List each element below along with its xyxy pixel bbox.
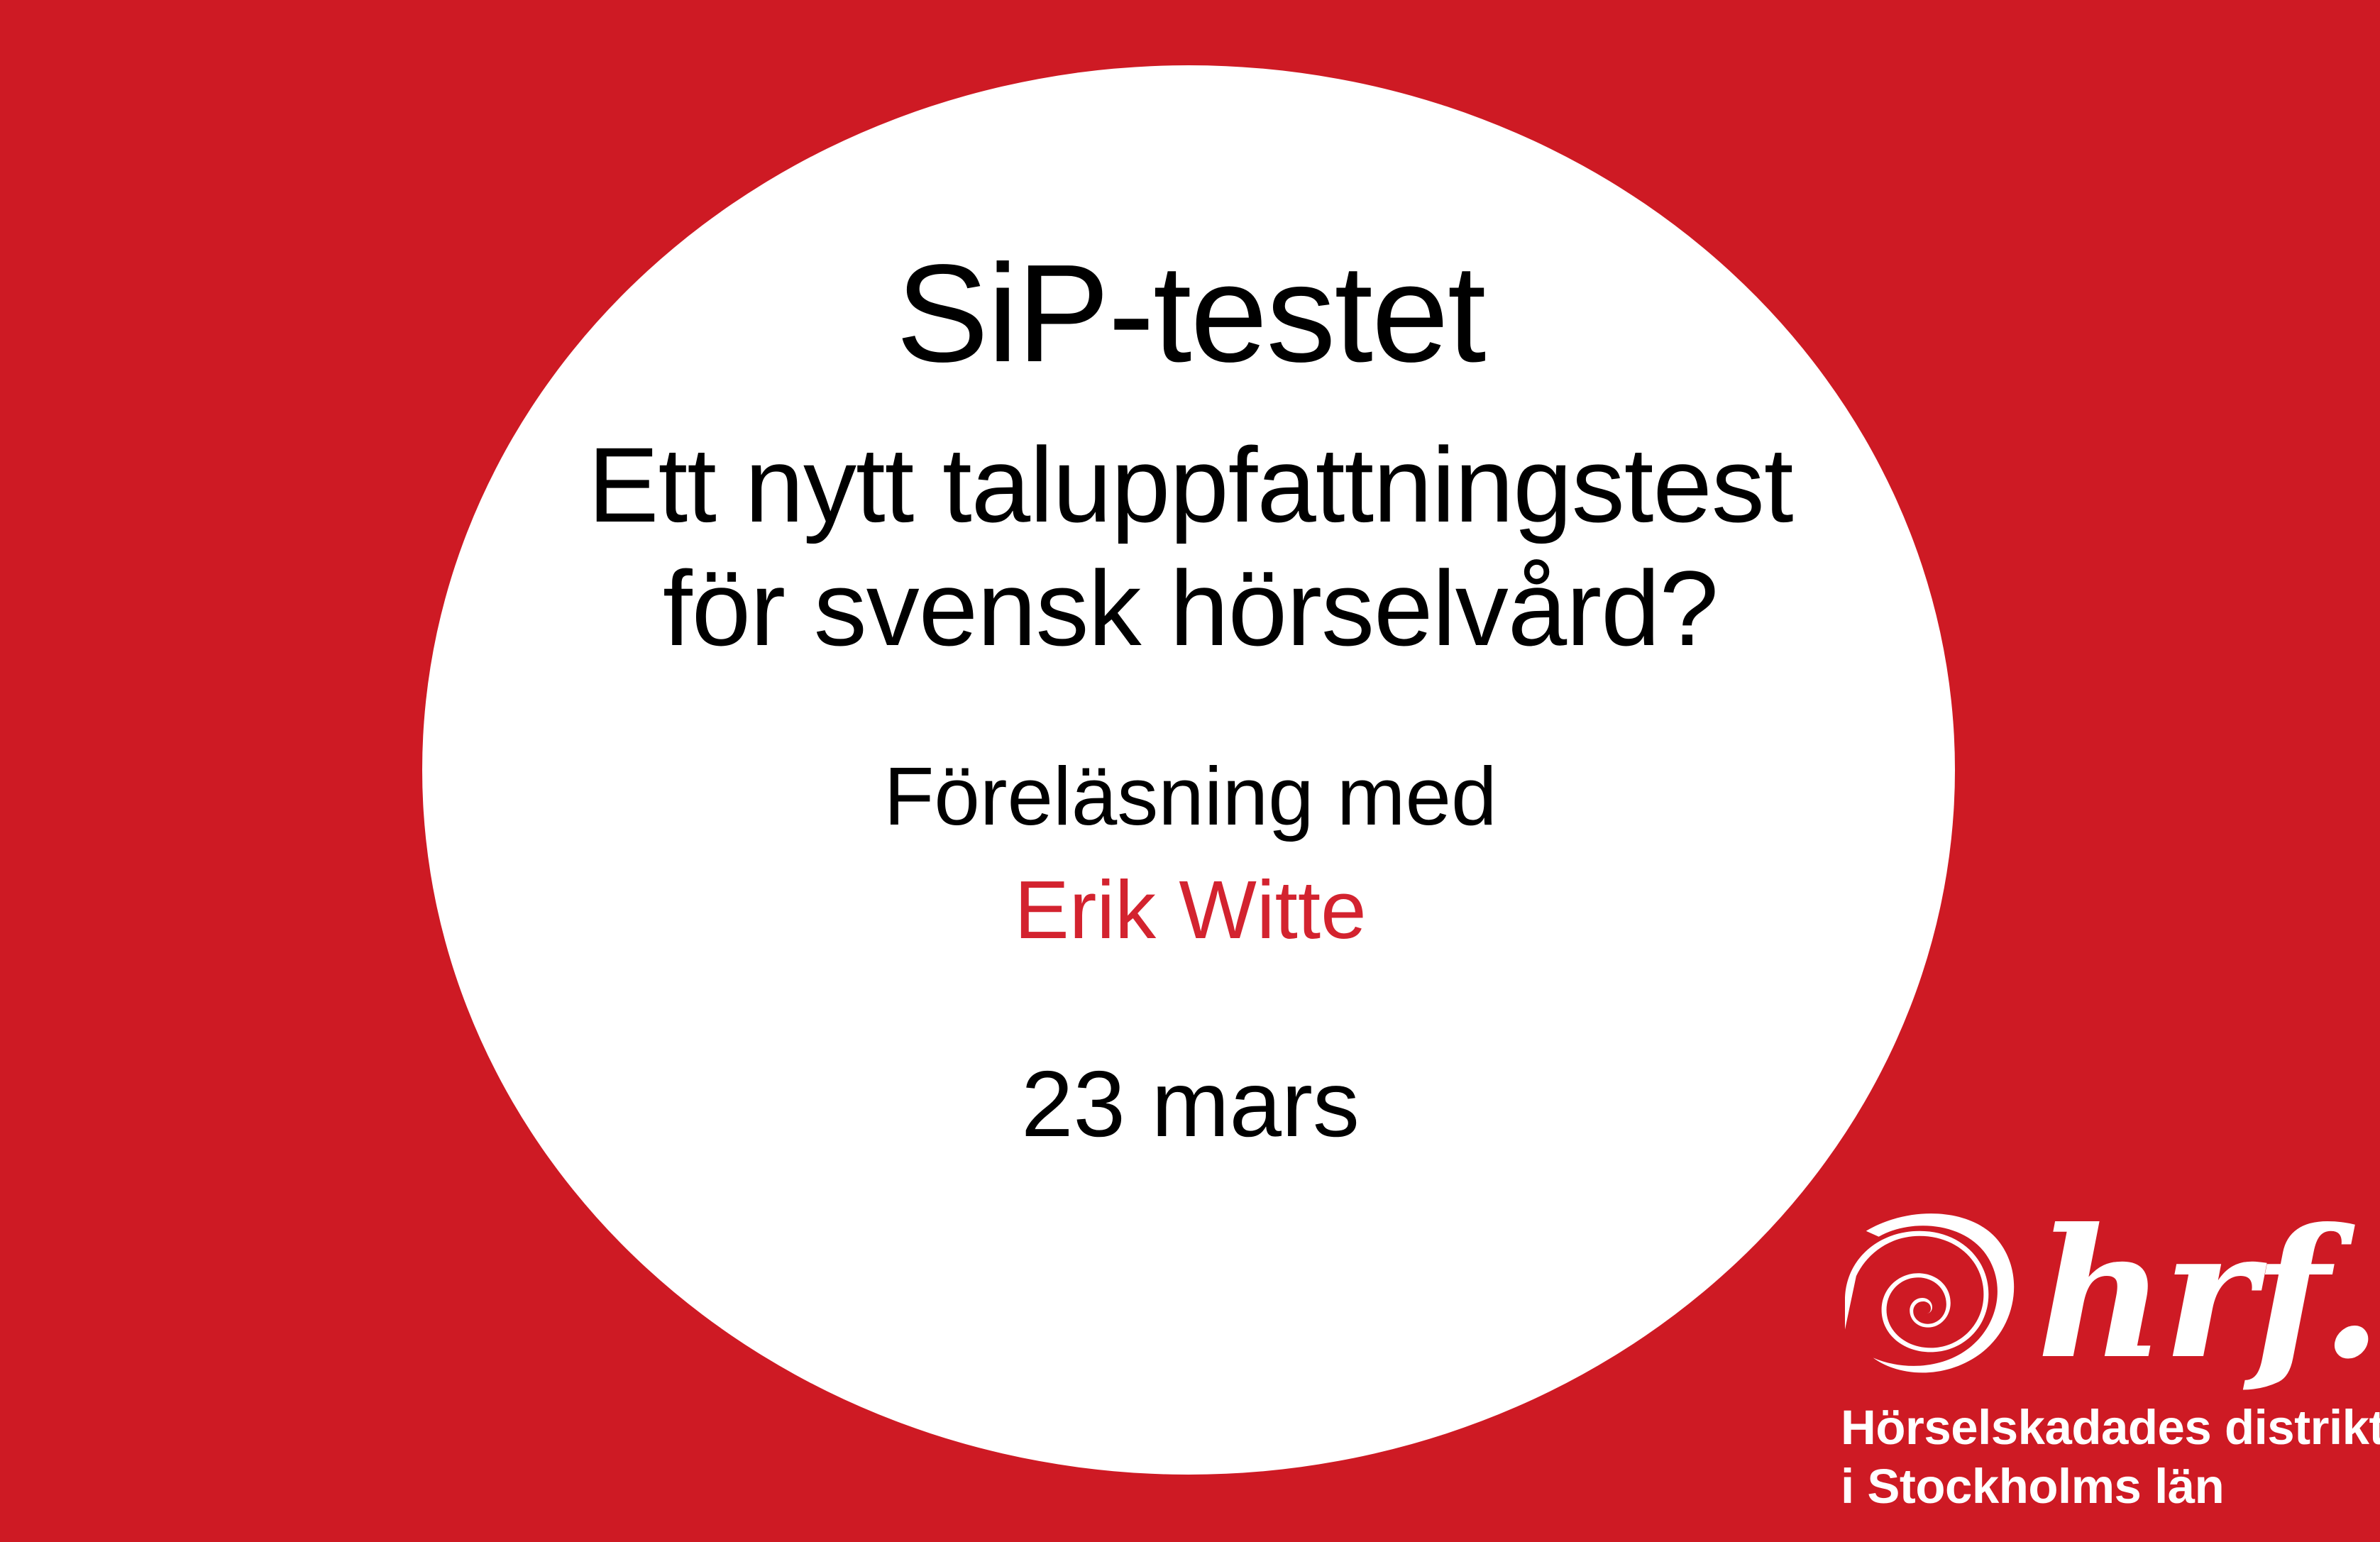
- logo-mark-row: hrf.: [1841, 1203, 2353, 1393]
- poster-canvas: SiP-testet Ett nytt taluppfattningstest …: [0, 0, 2380, 1542]
- logo-org-line-1: Hörselskadades distrikt: [1841, 1399, 2353, 1458]
- subtitle-line-1: Ett nytt taluppfattningstest: [588, 423, 1792, 546]
- logo-org-lines: Hörselskadades distrikt i Stockholms län: [1841, 1399, 2353, 1516]
- lecture-label: Föreläsning med: [884, 755, 1497, 837]
- event-date: 23 mars: [1021, 1057, 1360, 1151]
- hrf-logo: hrf. Hörselskadades distrikt i Stockholm…: [1828, 1203, 2353, 1516]
- poster-content: SiP-testet Ett nytt taluppfattningstest …: [422, 65, 1958, 1475]
- cochlea-spiral-icon: [1841, 1210, 2024, 1386]
- subtitle-line-2: för svensk hörselvård?: [663, 546, 1718, 670]
- page-title: SiP-testet: [896, 244, 1485, 383]
- logo-org-line-2: i Stockholms län: [1841, 1458, 2353, 1516]
- logo-wordmark: hrf.: [2037, 1223, 2379, 1365]
- speaker-name: Erik Witte: [1014, 869, 1366, 951]
